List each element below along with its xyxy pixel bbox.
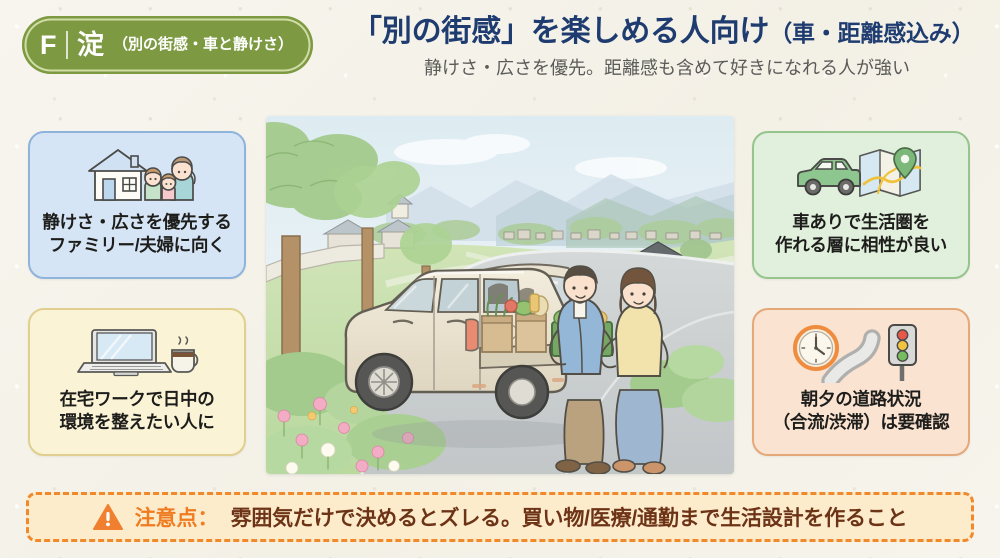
badge-divider (66, 31, 68, 59)
house-family-icon (62, 145, 212, 207)
warning-text: 雰囲気だけで決めるとズレる。買い物/医療/通勤まで生活設計を作ること (231, 502, 908, 532)
card-traffic-label: 朝夕の道路状況 （合流/渋滞）は要確認 (773, 388, 950, 434)
page-title-paren: （車・距離感込み） (769, 20, 974, 46)
area-badge: F 淀 （別の街感・車と静けさ） (22, 16, 313, 74)
page-title-main: 「別の街感」を楽しめる人向け (352, 15, 769, 48)
card-family: 静けさ・広さを優先する ファミリー/夫婦に向く (28, 131, 246, 279)
card-remote-work: 在宅ワークで日中の 環境を整えたい人に (28, 308, 246, 456)
badge-area-name: 淀 (77, 32, 104, 59)
warning-banner: 注意点： 雰囲気だけで決めるとズレる。買い物/医療/通勤まで生活設計を作ること (26, 492, 974, 542)
page-subtitle: 静けさ・広さを優先。距離感も含めて好きになれる人が強い (352, 58, 988, 80)
warning-label: 注意点： (135, 502, 219, 532)
clock-road-signal-icon (786, 322, 936, 384)
warning-triangle-icon (93, 504, 123, 531)
card-traffic: 朝夕の道路状況 （合流/渋滞）は要確認 (752, 308, 970, 456)
badge-letter: F (40, 32, 57, 59)
page-title: 「別の街感」を楽しめる人向け（車・距離感込み） (352, 14, 988, 49)
card-car-life: 車ありで生活圏を 作れる層に相性が良い (752, 131, 970, 279)
main-illustration (266, 116, 734, 474)
car-map-icon (786, 145, 936, 207)
laptop-coffee-icon (62, 322, 212, 384)
card-car-life-label: 車ありで生活圏を 作れる層に相性が良い (775, 211, 947, 257)
badge-area-note: （別の街感・車と静けさ） (113, 37, 293, 53)
card-remote-work-label: 在宅ワークで日中の 環境を整えたい人に (60, 388, 215, 434)
card-family-label: 静けさ・広さを優先する ファミリー/夫婦に向く (42, 211, 231, 257)
header: F 淀 （別の街感・車と静けさ） 「別の街感」を楽しめる人向け（車・距離感込み）… (0, 0, 1000, 112)
title-block: 「別の街感」を楽しめる人向け（車・距離感込み） 静けさ・広さを優先。距離感も含め… (352, 14, 988, 80)
